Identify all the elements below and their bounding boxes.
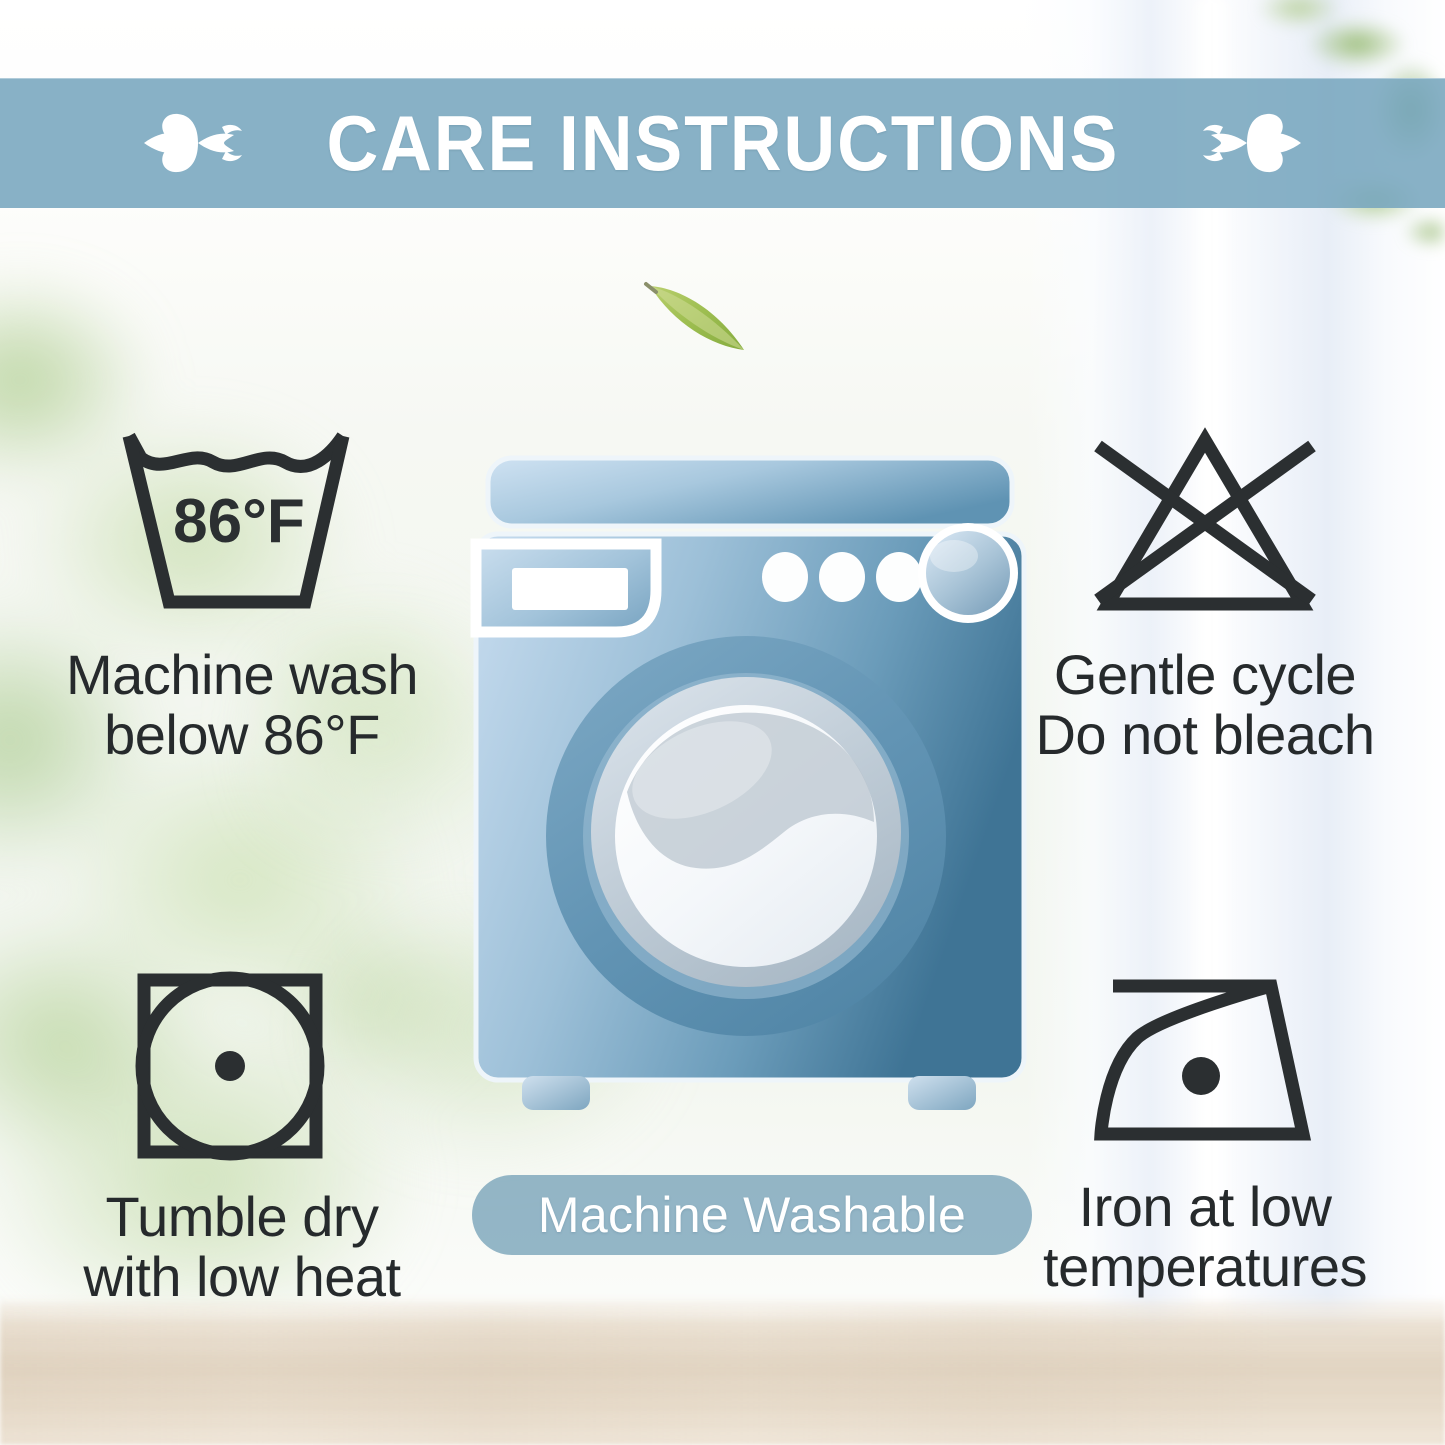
crossed-triangle-icon [1070, 424, 1340, 629]
leaf-icon [640, 272, 758, 364]
machine-washable-badge: Machine Washable [472, 1175, 1032, 1255]
page-title: CARE INSTRUCTIONS [326, 104, 1119, 182]
machine-washable-label: Machine Washable [538, 1190, 966, 1240]
care-label-tumble-dry: Tumble dry with low heat [83, 1187, 400, 1307]
washing-machine-illustration [470, 440, 1030, 1130]
fleur-de-lis-icon [138, 95, 258, 191]
washer-detergent-drawer [476, 544, 656, 632]
care-label-machine-wash: Machine wash below 86°F [66, 645, 418, 765]
washer-lid [488, 458, 1012, 526]
background-wood-grain [0, 1305, 1445, 1445]
washer-control-dial [918, 523, 1018, 623]
care-label-do-not-bleach: Gentle cycle Do not bleach [1035, 645, 1374, 765]
care-symbol-do-not-bleach: Gentle cycle Do not bleach [985, 424, 1425, 765]
tumble-dry-low-icon [127, 966, 357, 1171]
fleur-de-lis-icon [1187, 95, 1307, 191]
header-banner: CARE INSTRUCTIONS [0, 78, 1445, 208]
care-instructions-infographic: CARE INSTRUCTIONS [0, 0, 1445, 1445]
care-symbol-iron-low: Iron at low temperatures [985, 966, 1425, 1297]
iron-one-dot-icon [1075, 966, 1335, 1161]
washer-indicator-lights [762, 552, 922, 602]
wash-temperature-value: 86°F [173, 487, 305, 556]
wash-tub-icon: 86°F [107, 424, 377, 629]
care-symbol-tumble-dry: Tumble dry with low heat [22, 966, 462, 1307]
washer-door [546, 636, 946, 1036]
care-symbol-machine-wash: 86°F Machine wash below 86°F [22, 424, 462, 765]
care-label-iron-low: Iron at low temperatures [1043, 1177, 1367, 1297]
